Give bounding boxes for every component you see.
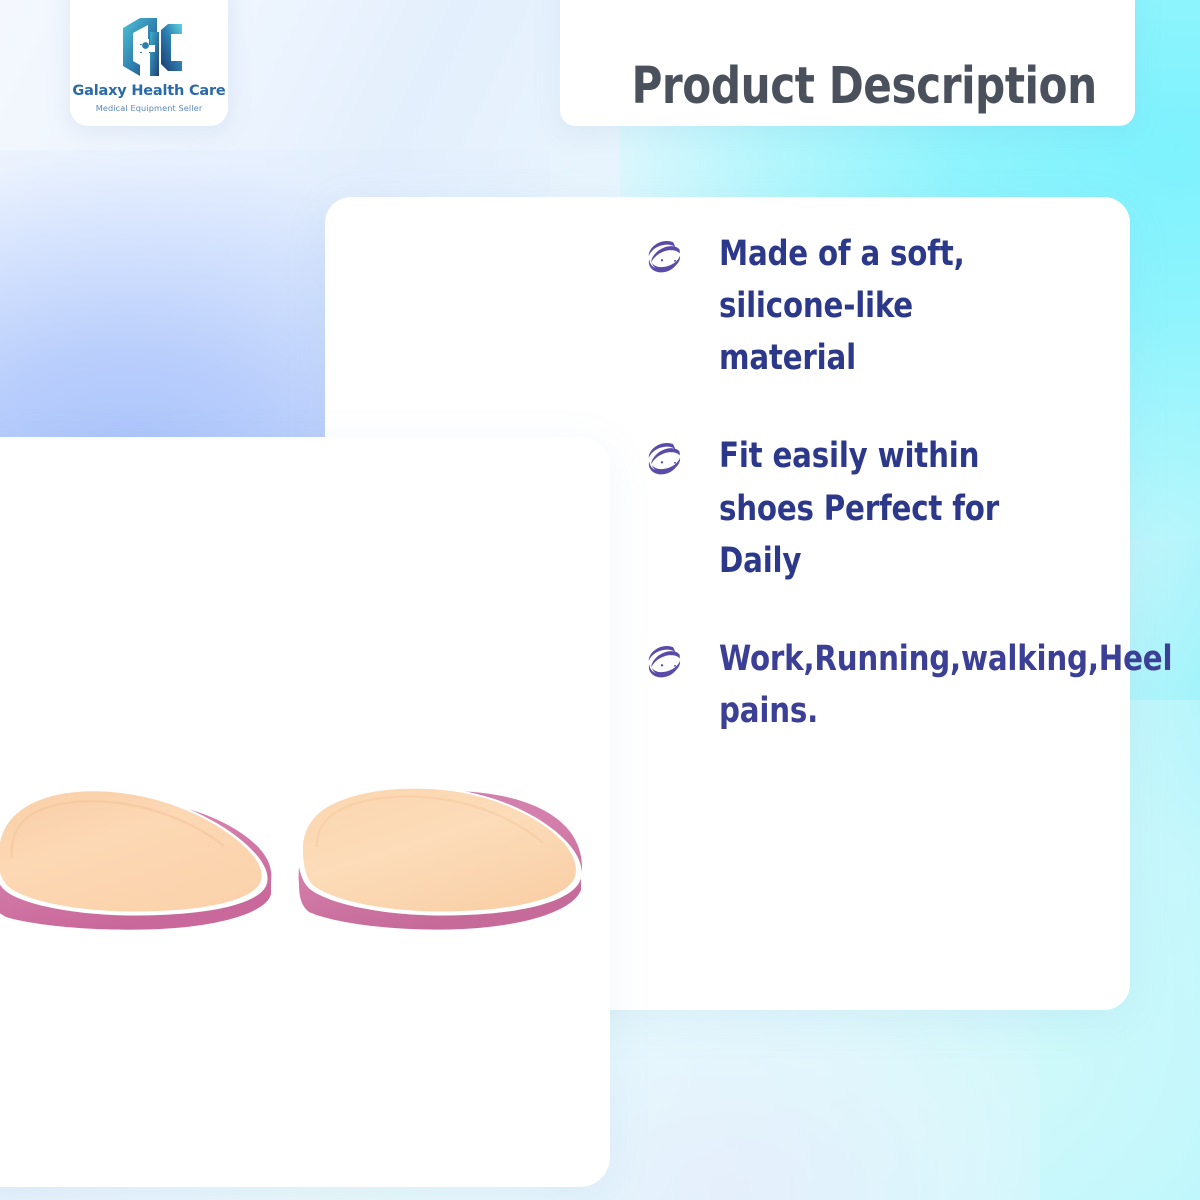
brand-tagline: Medical Equipment Seller: [96, 103, 203, 113]
ghc-hexagon-monogram-icon: [110, 14, 188, 80]
list-item-label: Work,Running,walking,Heel pains.: [719, 633, 1054, 737]
brand-logo-card[interactable]: Galaxy Health Care Medical Equipment Sel…: [70, 0, 228, 126]
product-image-card: [0, 437, 610, 1187]
page-title-card: Product Description: [560, 0, 1135, 126]
poster-canvas: Product Description: [0, 0, 1200, 1200]
purple-globe-swirl-icon: [641, 641, 687, 681]
list-item-label: Fit easily within shoes Perfect for Dail…: [719, 430, 1037, 586]
list-item: Work,Running,walking,Heel pains.: [641, 633, 1061, 737]
purple-globe-swirl-icon: [641, 438, 687, 478]
list-item: Made of a soft, silicone-like material: [641, 228, 1061, 384]
feature-list: Made of a soft, silicone-like material: [641, 228, 1061, 737]
product-photo: [0, 437, 610, 1187]
list-item-label: Made of a soft, silicone-like material: [719, 228, 1037, 384]
page-title: Product Description: [632, 61, 1097, 112]
brand-name: Galaxy Health Care: [72, 84, 225, 100]
purple-globe-swirl-icon: [641, 236, 687, 276]
list-item: Fit easily within shoes Perfect for Dail…: [641, 430, 1061, 586]
heel-cushion-pads-image: [0, 762, 590, 952]
